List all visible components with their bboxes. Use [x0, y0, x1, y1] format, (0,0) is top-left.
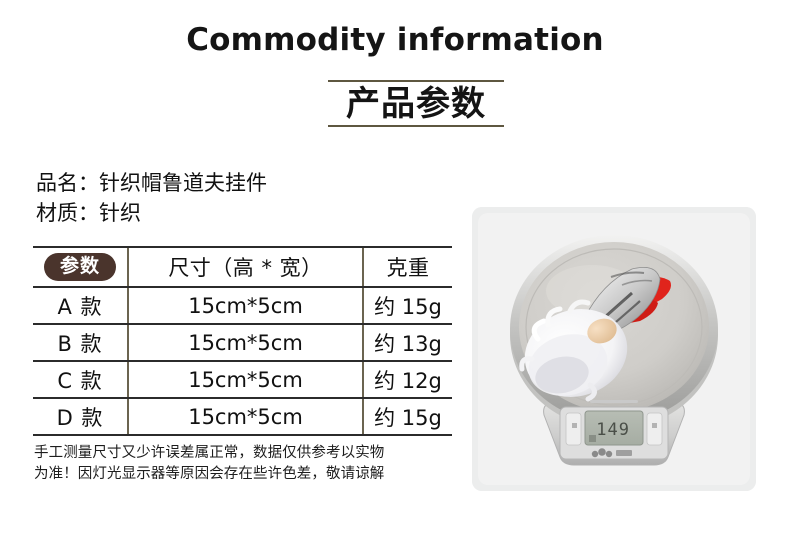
weight-value: 约 15g: [374, 406, 442, 430]
scale-reading: 149: [596, 420, 630, 440]
page-title-english: Commodity information: [0, 22, 790, 58]
table-header-weight-label: 克重: [387, 256, 430, 280]
table-header-size-label: 尺寸（高 * 宽）: [168, 256, 322, 280]
table-row: B 款 15cm*5cm 约 13g: [33, 324, 452, 361]
table-cell-size: 15cm*5cm: [128, 361, 363, 398]
table-cell-weight: 约 13g: [363, 324, 452, 361]
weight-value: 约 15g: [374, 295, 442, 319]
table-row: C 款 15cm*5cm 约 12g: [33, 361, 452, 398]
size-value: 15cm*5cm: [188, 294, 303, 318]
size-value: 15cm*5cm: [188, 331, 303, 355]
section-title-banner: 产品参数: [328, 80, 504, 127]
table-cell-weight: 约 15g: [363, 398, 452, 435]
disclaimer-note: 手工测量尺寸又少许误差属正常，数据仅供参考以实物 为准！因灯光显示器等原因会存在…: [34, 443, 458, 485]
parameter-table: 参数 尺寸（高 * 宽） 克重 A 款 15cm*5cm 约 15g B 款: [33, 246, 452, 436]
product-photo: 149: [472, 207, 756, 491]
table-header-row: 参数 尺寸（高 * 宽） 克重: [33, 247, 452, 287]
banner-rule-bottom: [328, 125, 504, 127]
disclaimer-line-2: 为准！因灯光显示器等原因会存在些许色差，敬请谅解: [34, 464, 458, 485]
weight-value: 约 12g: [374, 369, 442, 393]
table-header-cell-weight: 克重: [363, 247, 452, 287]
table-cell-weight: 约 15g: [363, 287, 452, 324]
table-cell-weight: 约 12g: [363, 361, 452, 398]
section-title-chinese: 产品参数: [328, 84, 504, 124]
weight-value: 约 13g: [374, 332, 442, 356]
size-value: 15cm*5cm: [188, 405, 303, 429]
model-value: D 款: [57, 406, 104, 430]
table-cell-size: 15cm*5cm: [128, 398, 363, 435]
table-cell-size: 15cm*5cm: [128, 287, 363, 324]
table-cell-model: B 款: [33, 324, 128, 361]
product-name-line: 品名：针织帽鲁道夫挂件: [36, 168, 456, 198]
banner-rule-top: [328, 80, 504, 82]
disclaimer-line-1: 手工测量尺寸又少许误差属正常，数据仅供参考以实物: [34, 443, 458, 464]
product-spec-lines: 品名：针织帽鲁道夫挂件 材质：针织: [36, 168, 456, 228]
parameter-badge: 参数: [44, 253, 116, 281]
table-cell-model: D 款: [33, 398, 128, 435]
product-material-line: 材质：针织: [36, 198, 456, 228]
table-row: D 款 15cm*5cm 约 15g: [33, 398, 452, 435]
size-value: 15cm*5cm: [188, 368, 303, 392]
table-cell-size: 15cm*5cm: [128, 324, 363, 361]
table-cell-model: C 款: [33, 361, 128, 398]
table-cell-model: A 款: [33, 287, 128, 324]
scale-photo-illustration: 149: [472, 207, 756, 491]
model-value: A 款: [57, 295, 102, 319]
table-header-cell-parameter: 参数: [33, 247, 128, 287]
table-header-cell-size: 尺寸（高 * 宽）: [128, 247, 363, 287]
model-value: C 款: [57, 369, 102, 393]
model-value: B 款: [57, 332, 102, 356]
table-row: A 款 15cm*5cm 约 15g: [33, 287, 452, 324]
